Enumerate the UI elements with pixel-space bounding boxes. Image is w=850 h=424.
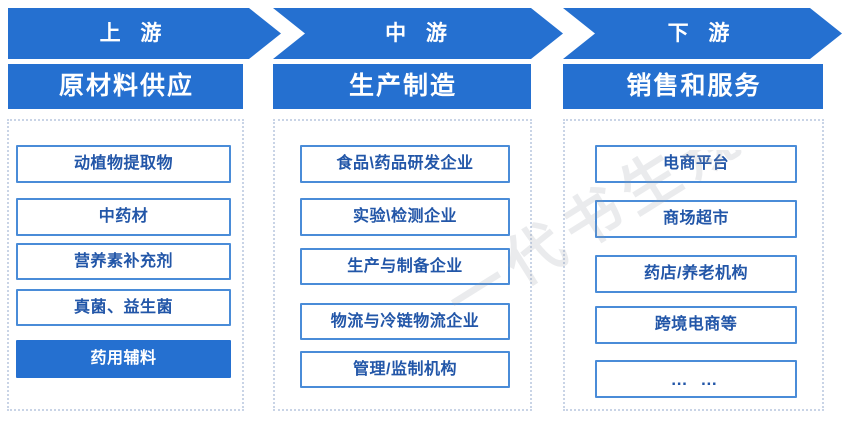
industry-chain-diagram: 上 游 中 游 下 游 原材料供应 生产制造 销售和服务 动植物提取物 中药材 … [0,0,850,424]
chain-item[interactable]: 商场超市 [595,200,797,238]
stage-title-downstream: 销售和服务 [563,64,823,109]
chain-item-label: 药店/养老机构 [644,266,748,282]
stage-title-label-downstream: 销售和服务 [624,74,761,99]
chain-item-label: 真菌、益生菌 [74,300,173,316]
stage-arrow-label-upstream: 上 游 [93,23,169,44]
chain-item[interactable]: 实验\检测企业 [300,198,510,236]
chain-item[interactable]: 生产与制备企业 [300,248,510,285]
chain-item[interactable]: 中药材 [16,198,231,236]
stage-title-upstream: 原材料供应 [8,64,243,109]
chain-item-label: 跨境电商等 [655,317,738,333]
stage-title-midstream: 生产制造 [273,64,531,109]
chain-item[interactable]: 物流与冷链物流企业 [300,303,510,340]
chain-item[interactable]: 营养素补充剂 [16,243,231,280]
stage-arrow-downstream: 下 游 [563,8,842,59]
chain-item-label: 实验\检测企业 [353,209,457,225]
chain-item-label: 商场超市 [663,211,729,227]
chain-item-label: 食品\药品研发企业 [337,156,474,172]
chain-item[interactable]: … … [595,360,797,398]
chain-item-label: 管理/监制机构 [353,362,457,378]
chain-item[interactable]: 管理/监制机构 [300,351,510,388]
chain-item[interactable]: 跨境电商等 [595,306,797,344]
chain-item-label: 生产与制备企业 [347,259,463,275]
stage-arrow-label-downstream: 下 游 [661,23,737,44]
stage-arrow-midstream: 中 游 [273,8,563,59]
chain-item-label: 中药材 [99,209,149,225]
chain-item[interactable]: 电商平台 [595,145,797,183]
stage-arrow-label-midstream: 中 游 [378,23,454,44]
chain-item-label: 电商平台 [663,156,729,172]
chain-item-label: 物流与冷链物流企业 [331,314,480,330]
chain-item[interactable]: 药店/养老机构 [595,255,797,293]
chain-item[interactable]: 动植物提取物 [16,145,231,183]
chain-item-label: … … [671,371,722,388]
chain-item[interactable]: 真菌、益生菌 [16,289,231,326]
stage-title-label-upstream: 原材料供应 [57,74,194,99]
stage-arrow-upstream: 上 游 [8,8,281,59]
chain-item-highlighted[interactable]: 药用辅料 [16,340,231,378]
chain-item-label: 药用辅料 [90,351,156,367]
stage-title-label-midstream: 生产制造 [347,74,457,99]
chain-item-label: 动植物提取物 [74,156,173,172]
chain-item[interactable]: 食品\药品研发企业 [300,145,510,183]
chain-item-label: 营养素补充剂 [74,254,173,270]
